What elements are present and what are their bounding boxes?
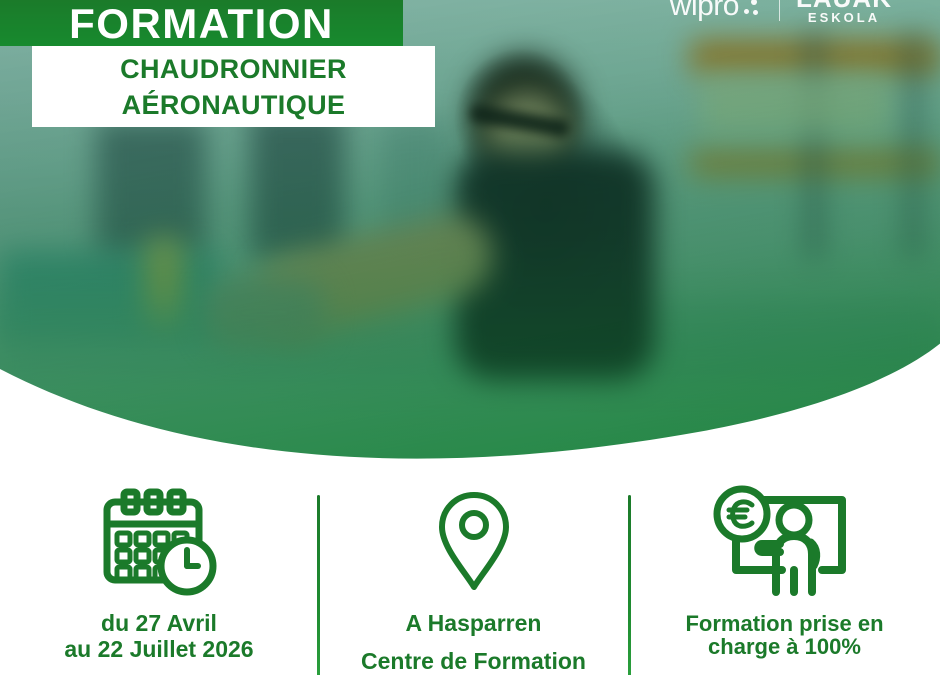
calendar-clock-icon xyxy=(97,488,221,598)
info-column-dates: du 27 Avril au 22 Juillet 2026 xyxy=(0,470,318,675)
lauak-eskola-logo: LAUAK ESKOLA xyxy=(796,0,892,26)
info-section: du 27 Avril au 22 Juillet 2026 A Hasparr… xyxy=(0,470,940,675)
funding-line-1: Formation prise en xyxy=(685,612,883,635)
eskola-logo-text: ESKOLA xyxy=(808,10,880,26)
lauak-logo-text: LAUAK xyxy=(796,0,892,10)
dates-line-2: au 22 Juillet 2026 xyxy=(64,636,253,662)
wipro-logo-text: wipro xyxy=(670,0,739,21)
hero-section: FORMATION CHAUDRONNIER AÉRONAUTIQUE wipr… xyxy=(0,0,940,470)
funding-label: Formation prise en charge à 100% xyxy=(685,612,883,658)
location-line-1: A Hasparren xyxy=(406,610,542,636)
info-column-location: A Hasparren Centre de Formation xyxy=(318,470,629,675)
hero-wave-divider xyxy=(0,282,940,470)
info-column-funding: Formation prise en charge à 100% xyxy=(629,470,940,675)
banner-title: FORMATION xyxy=(69,4,334,44)
location-line-2: Centre de Formation xyxy=(361,646,586,675)
title-card-line-2: AÉRONAUTIQUE xyxy=(122,87,346,123)
logo-separator xyxy=(779,0,780,21)
title-card: CHAUDRONNIER AÉRONAUTIQUE xyxy=(32,46,435,127)
formation-banner: FORMATION xyxy=(0,0,403,46)
location-label: A Hasparren xyxy=(406,610,542,636)
map-pin-icon-wrap xyxy=(435,488,513,596)
map-pin-icon xyxy=(435,488,513,596)
poster-root: FORMATION CHAUDRONNIER AÉRONAUTIQUE wipr… xyxy=(0,0,940,675)
wipro-logo: wipro xyxy=(670,0,763,21)
dates-line-1: du 27 Avril xyxy=(64,610,253,636)
euro-training-icon-wrap xyxy=(710,484,860,604)
title-card-line-1: CHAUDRONNIER xyxy=(120,51,347,87)
calendar-clock-icon-wrap xyxy=(97,488,221,598)
funding-line-2: charge à 100% xyxy=(685,635,883,658)
dates-label: du 27 Avril au 22 Juillet 2026 xyxy=(64,610,253,662)
wipro-dots-icon xyxy=(741,0,763,21)
partner-logos: wipro LAUAK ESKOLA xyxy=(670,0,892,26)
euro-training-icon xyxy=(710,484,860,604)
